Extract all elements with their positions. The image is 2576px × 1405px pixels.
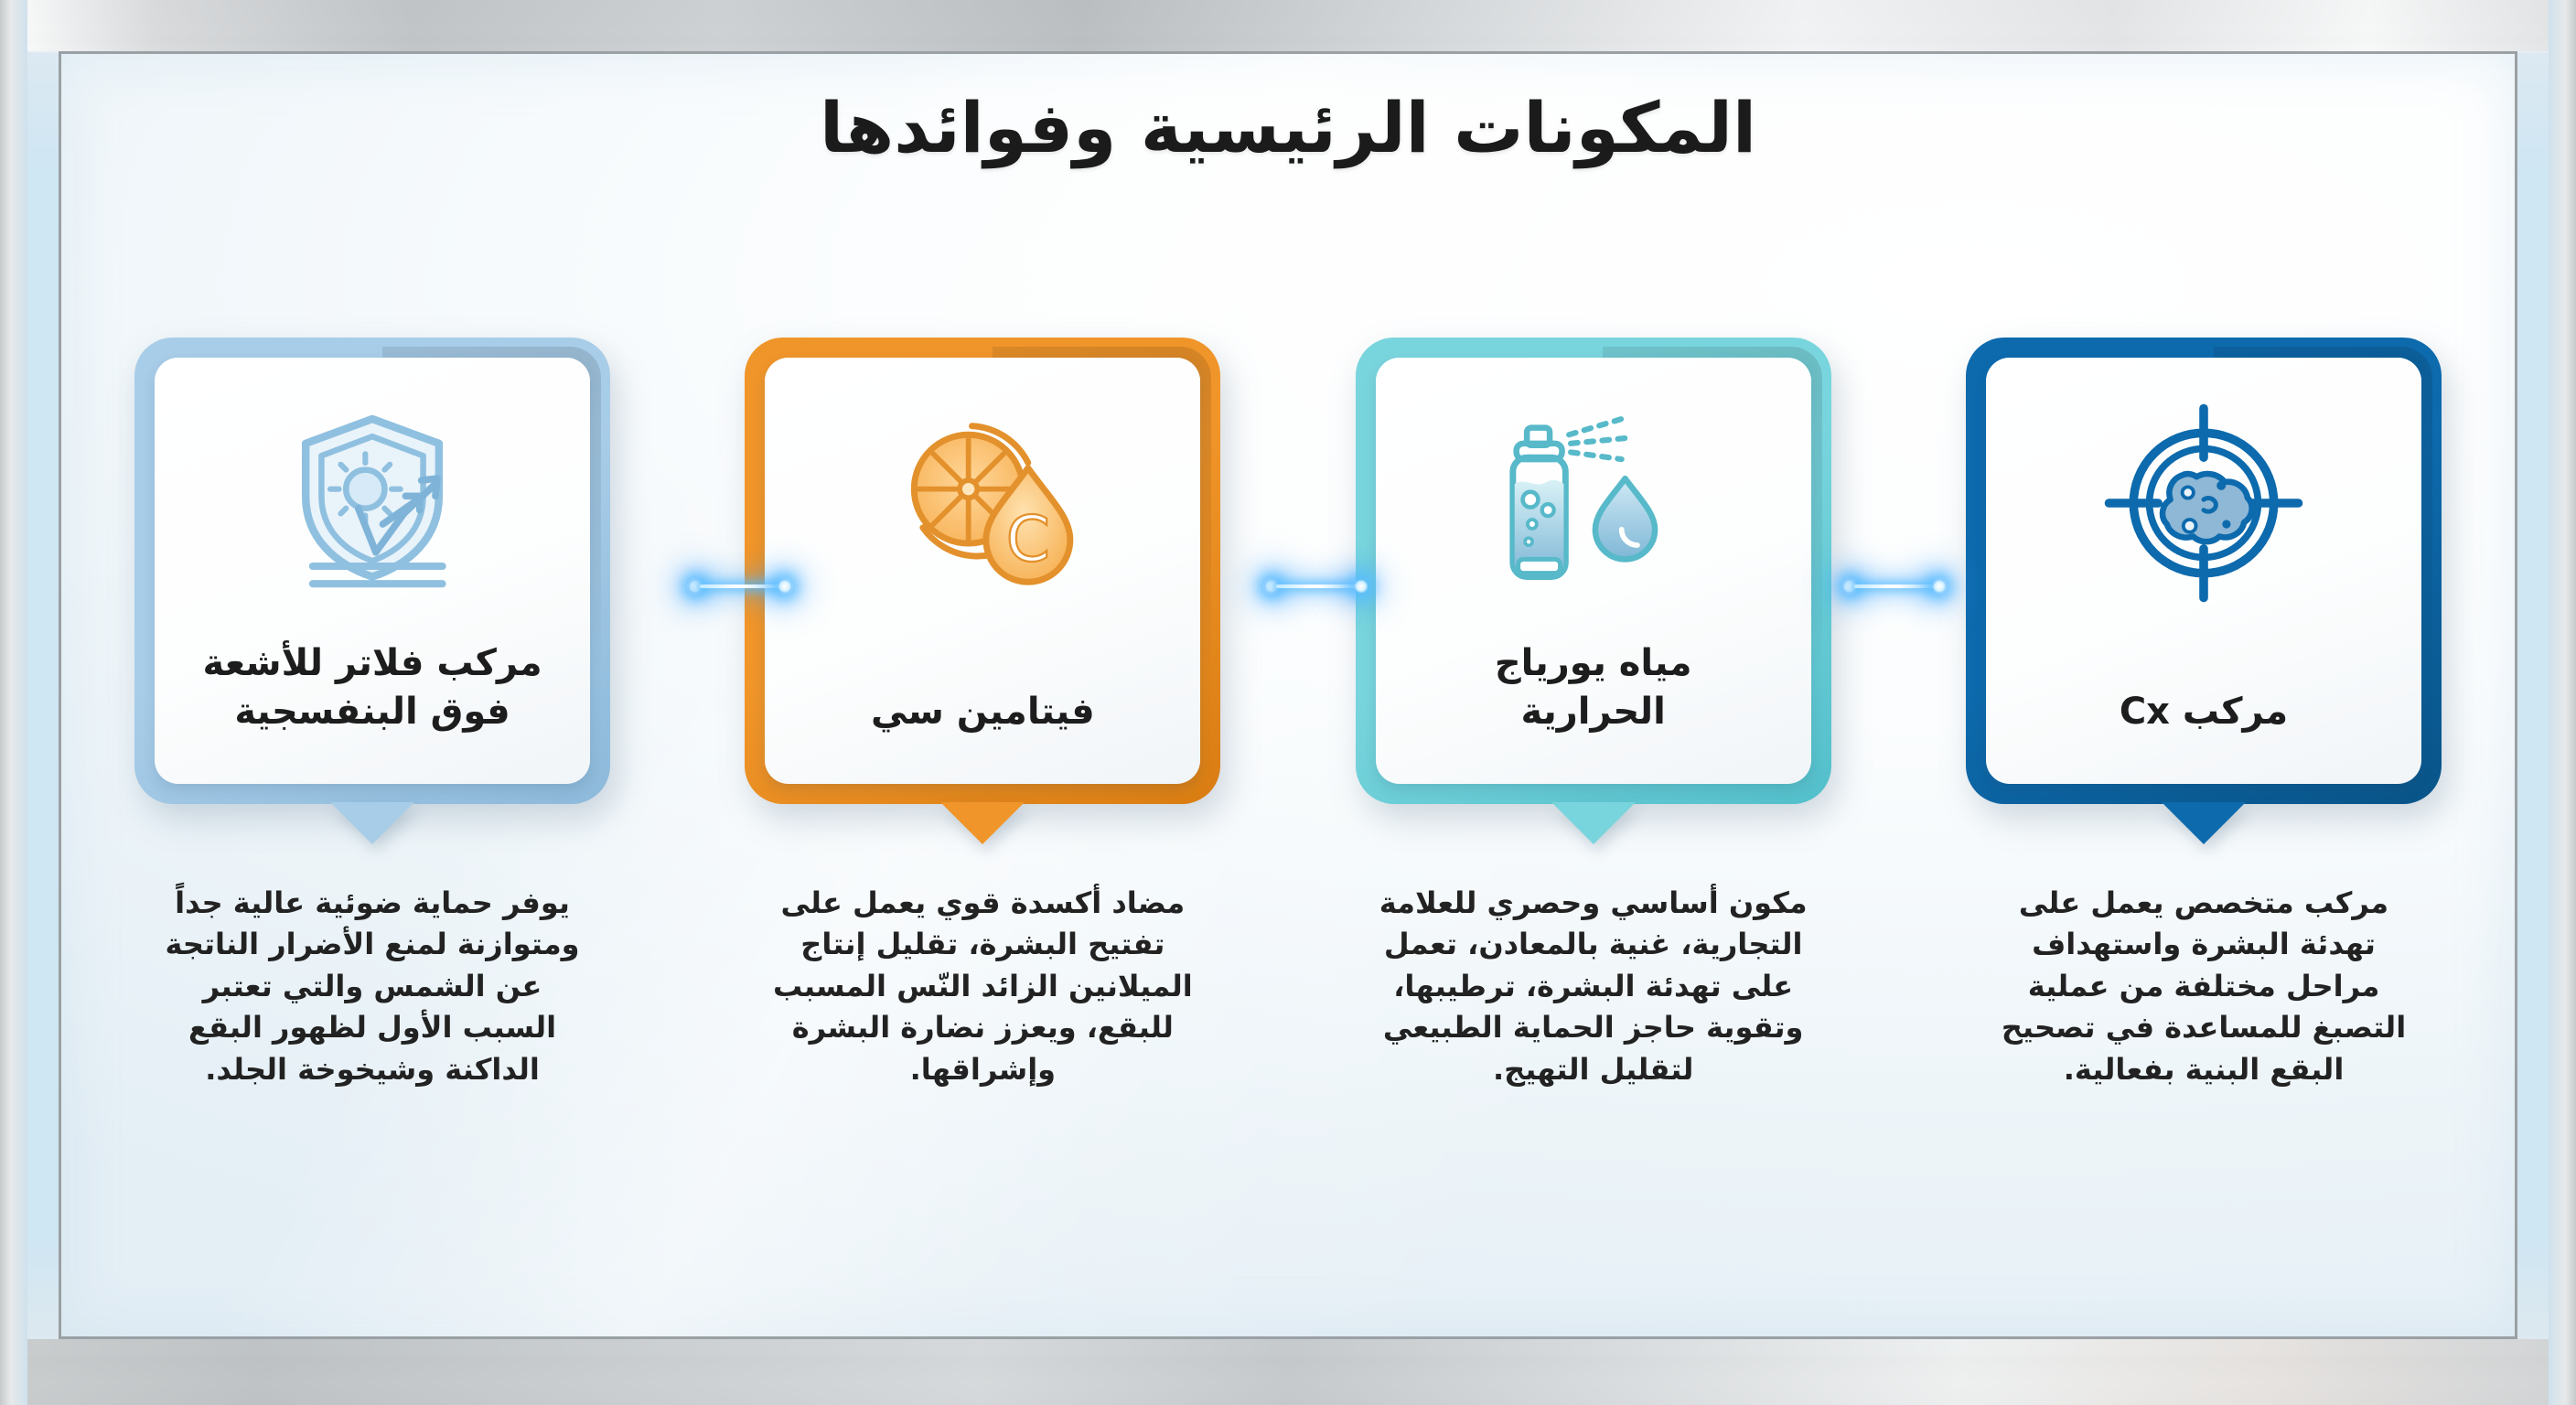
card-description-cx-complex: مركب متخصص يعمل على تهدئة البشرة واستهدا… — [1984, 883, 2423, 1090]
card-face-vitamin-c: C فيتامين سي — [765, 358, 1200, 784]
card-tail-uv-filters — [330, 802, 414, 844]
card-title-cx-complex: مركب Cx — [2120, 688, 2288, 736]
svg-text:C: C — [1006, 503, 1050, 576]
frame-bevel-left — [0, 0, 27, 1405]
card-title-vitamin-c: فيتامين سي — [871, 688, 1095, 736]
ingredient-column-cx-complex: مركب Cx مركب متخصص يعمل على تهدئة البشرة… — [1929, 338, 2478, 1090]
card-tail-uriage-thermal-water — [1551, 802, 1636, 844]
card-face-uv-filters: مركب فلاتر للأشعة فوق البنفسجية — [155, 358, 590, 784]
poster-frame: المكونات الرئيسية وفوائدها — [0, 0, 2576, 1405]
ingredient-column-uriage-thermal-water: مياه يورياج الحرارية مكون أساسي وحصري لل… — [1319, 338, 1868, 1090]
card-shell-vitamin-c[interactable]: C فيتامين سي — [745, 338, 1220, 804]
crosshair-molecule-target-icon — [2098, 398, 2309, 608]
card-title-uv-filters: مركب فلاتر للأشعة فوق البنفسجية — [202, 639, 542, 736]
card-face-uriage-thermal-water: مياه يورياج الحرارية — [1376, 358, 1811, 784]
orange-slice-droplet-c-icon: C — [877, 398, 1088, 608]
page-title: المكونات الرئيسية وفوائدها — [61, 87, 2515, 168]
ingredient-column-vitamin-c: C فيتامين سي مضاد أكسدة قوي يعمل على تفت… — [708, 338, 1257, 1090]
ingredient-column-uv-filters: مركب فلاتر للأشعة فوق البنفسجية يوفر حما… — [98, 338, 647, 1090]
card-shell-cx-complex[interactable]: مركب Cx — [1966, 338, 2442, 804]
shield-sun-rays-icon — [267, 398, 478, 608]
card-title-uriage-thermal-water: مياه يورياج الحرارية — [1495, 639, 1692, 736]
card-shell-uriage-thermal-water[interactable]: مياه يورياج الحرارية — [1356, 338, 1831, 804]
card-tail-cx-complex — [2162, 802, 2246, 844]
card-face-cx-complex: مركب Cx — [1986, 358, 2421, 784]
card-description-vitamin-c: مضاد أكسدة قوي يعمل على تفتيح البشرة، تق… — [763, 883, 1202, 1090]
spray-bottle-droplet-icon — [1488, 398, 1699, 608]
card-shell-uv-filters[interactable]: مركب فلاتر للأشعة فوق البنفسجية — [134, 338, 610, 804]
card-tail-vitamin-c — [940, 802, 1025, 844]
ingredient-cards-strip: مركب Cx مركب متخصص يعمل على تهدئة البشرة… — [98, 338, 2478, 1298]
card-description-uriage-thermal-water: مكون أساسي وحصري للعلامة التجارية، غنية … — [1374, 883, 1813, 1090]
card-description-uv-filters: يوفر حماية ضوئية عالية جداً ومتوازنة لمن… — [153, 883, 592, 1090]
infographic-board: المكونات الرئيسية وفوائدها — [59, 51, 2517, 1339]
frame-bevel-right — [2549, 0, 2576, 1405]
